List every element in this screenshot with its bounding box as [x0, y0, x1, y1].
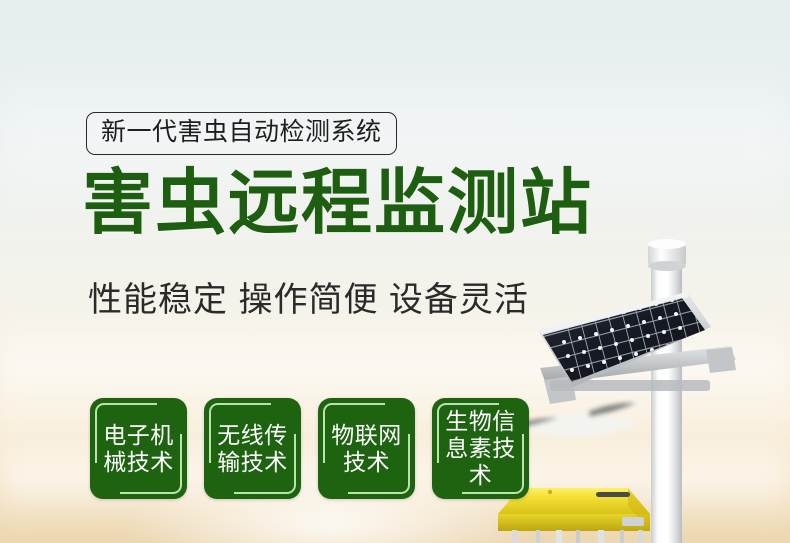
pole-cap	[648, 239, 686, 271]
feature-tag-4: 生物信息素技术	[432, 398, 529, 499]
product-banner: 新一代害虫自动检测系统 害虫远程监测站 性能稳定 操作简便 设备灵活 电子机械技…	[0, 0, 790, 543]
feature-tag-label: 电子机械技术	[100, 422, 178, 475]
page-title: 害虫远程监测站	[82, 168, 593, 239]
feature-tag-list: 电子机械技术 无线传输技术 物联网技术 生物信息素技术	[90, 398, 529, 499]
tagline-badge: 新一代害虫自动检测系统	[86, 112, 397, 155]
feature-tag-1: 电子机械技术	[90, 398, 187, 499]
flying-bird-icon	[514, 403, 640, 437]
tagline-badge-row: 新一代害虫自动检测系统	[86, 112, 397, 155]
collection-rods	[512, 530, 643, 543]
feature-tag-3: 物联网技术	[318, 398, 415, 499]
feature-tag-label: 生物信息素技术	[442, 408, 520, 488]
feature-tag-2: 无线传输技术	[204, 398, 301, 499]
feature-tag-label: 物联网技术	[328, 422, 406, 475]
page-subtitle: 性能稳定 操作简便 设备灵活	[88, 283, 529, 317]
feature-tag-label: 无线传输技术	[214, 422, 292, 475]
